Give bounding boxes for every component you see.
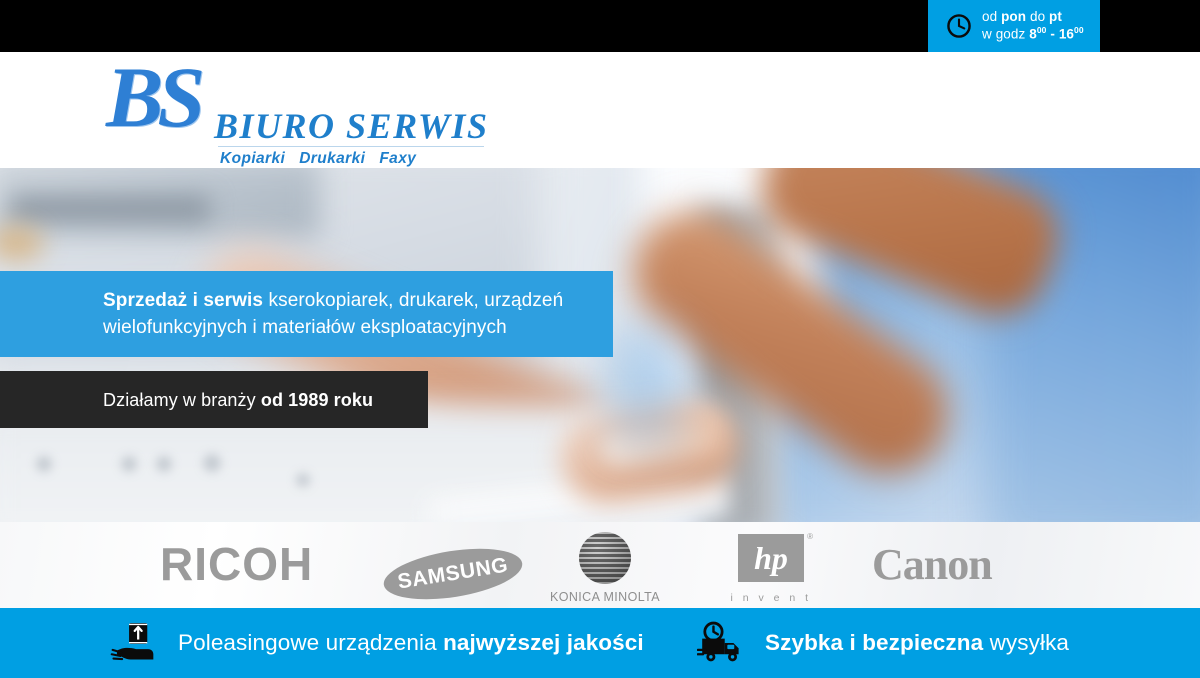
hero-headline-banner: Sprzedaż i serwis kserokopiarek, drukare… [0, 271, 613, 357]
hero-headline-bold: Sprzedaż i serwis [103, 290, 263, 311]
hours-label: w godz [982, 27, 1029, 42]
konica-globe-icon [579, 532, 631, 584]
logo-divider [218, 146, 484, 147]
hp-square: hp ® [738, 534, 804, 582]
hours-time-from: 8 [1029, 27, 1037, 42]
bottom-feature-bar: Poleasingowe urządzenia najwyższej jakoś… [0, 608, 1200, 678]
feature-shipping-rest: wysyłka [983, 630, 1069, 655]
hours-dash: - [1047, 27, 1059, 42]
brand-logo-hp[interactable]: hp ® i n v e n t [730, 534, 812, 604]
feature-quality-lead: Poleasingowe urządzenia [178, 630, 443, 655]
hours-mid: do [1026, 9, 1049, 24]
hero-subheadline-text: Działamy w branży od 1989 roku [0, 388, 373, 412]
hours-prefix: od [982, 9, 1001, 24]
site-logo[interactable]: BS BIURO SERWIS KopiarkiDrukarkiFaxy [96, 54, 516, 166]
hand-holding-box-icon [110, 621, 162, 665]
hero-banner: Sprzedaż i serwis kserokopiarek, drukare… [0, 168, 1200, 522]
top-black-bar: od pon do pt w godz 800 - 1600 [0, 0, 1200, 52]
konica-wordmark: KONICA MINOLTA [550, 590, 660, 604]
opening-hours-text: od pon do pt w godz 800 - 1600 [982, 9, 1084, 43]
brand-logo-ricoh[interactable]: RICOH [160, 536, 313, 592]
hours-time-to-sup: 00 [1074, 25, 1084, 35]
brand-logo-konica-minolta[interactable]: KONICA MINOLTA [540, 532, 670, 604]
delivery-truck-clock-icon [697, 621, 749, 665]
brand-logo-strip: RICOH SAMSUNG KONICA MINOLTA hp ® i n v … [0, 522, 1200, 608]
feature-quality-text: Poleasingowe urządzenia najwyższej jakoś… [178, 629, 644, 657]
hp-wordmark: hp [754, 542, 788, 574]
hours-time-to: 16 [1059, 27, 1074, 42]
feature-quality[interactable]: Poleasingowe urządzenia najwyższej jakoś… [110, 621, 644, 665]
feature-shipping[interactable]: Szybka i bezpieczna wysyłka [697, 621, 1069, 665]
site-header: BS BIURO SERWIS KopiarkiDrukarkiFaxy [0, 52, 1200, 168]
hero-subheadline-bold: od 1989 roku [261, 390, 373, 410]
hours-day-from: pon [1001, 9, 1026, 24]
logo-company-name: BIURO SERWIS [214, 108, 488, 144]
samsung-wordmark: SAMSUNG [396, 553, 510, 594]
hours-time-from-sup: 00 [1037, 25, 1047, 35]
registered-trademark-icon: ® [807, 532, 813, 541]
tagline-item-kopiarki: Kopiarki [220, 150, 285, 167]
hours-line-1: od pon do pt [982, 9, 1084, 25]
samsung-oval: SAMSUNG [380, 540, 525, 607]
hero-headline-text: Sprzedaż i serwis kserokopiarek, drukare… [0, 281, 613, 347]
hero-subheadline-lead: Działamy w branży [103, 390, 261, 410]
feature-shipping-bold: Szybka i bezpieczna [765, 630, 983, 655]
tagline-item-faxy: Faxy [379, 150, 416, 167]
brand-logo-samsung[interactable]: SAMSUNG [383, 550, 523, 598]
clock-icon [946, 13, 972, 39]
feature-quality-bold: najwyższej jakości [443, 630, 644, 655]
hp-invent-label: i n v e n t [730, 592, 811, 604]
brand-logo-canon[interactable]: Canon [872, 540, 992, 590]
opening-hours-box: od pon do pt w godz 800 - 1600 [928, 0, 1100, 52]
hours-line-2: w godz 800 - 1600 [982, 25, 1084, 43]
hours-day-to: pt [1049, 9, 1062, 24]
logo-tagline: KopiarkiDrukarkiFaxy [220, 150, 430, 168]
hero-subheadline-banner: Działamy w branży od 1989 roku [0, 371, 428, 428]
page-root: od pon do pt w godz 800 - 1600 BS BIURO … [0, 0, 1200, 678]
feature-shipping-text: Szybka i bezpieczna wysyłka [765, 629, 1069, 657]
tagline-item-drukarki: Drukarki [299, 150, 365, 167]
logo-monogram: BS [106, 54, 199, 140]
